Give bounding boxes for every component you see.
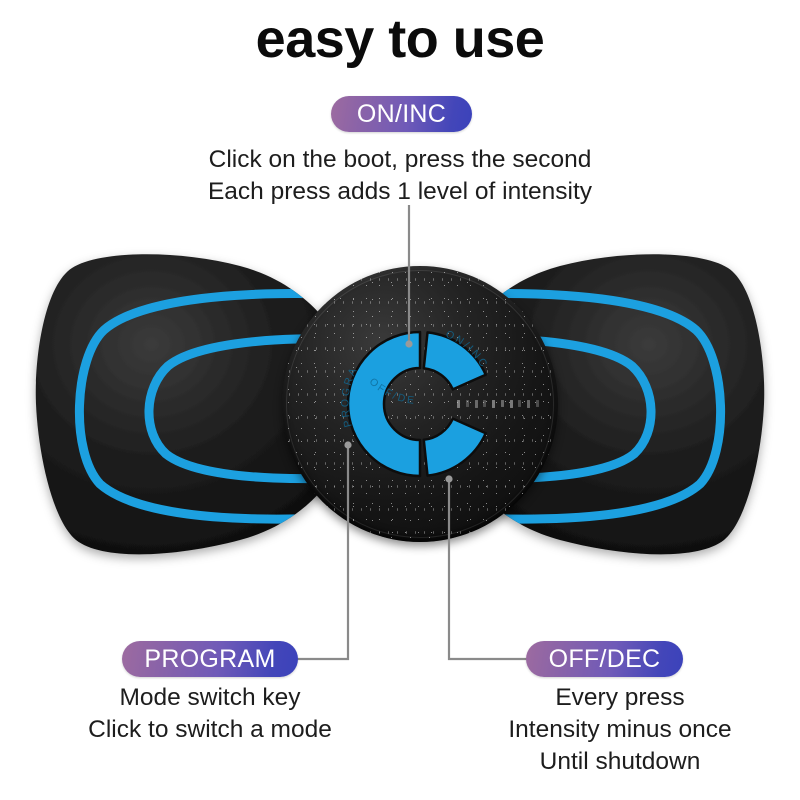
caption-line: Every press <box>440 682 800 714</box>
led-tick <box>457 400 460 408</box>
badge-on-inc[interactable]: ON/INC <box>331 96 472 132</box>
control-hub: ON/INC PROGRAM OFF/DEC <box>282 266 558 542</box>
led-tick <box>483 400 486 407</box>
caption-off-dec: Every press Intensity minus once Until s… <box>440 682 800 778</box>
caption-line: Until shutdown <box>440 746 800 778</box>
led-tick <box>466 400 469 407</box>
caption-line: Mode switch key <box>0 682 420 714</box>
led-tick <box>475 400 478 408</box>
badge-off-dec[interactable]: OFF/DEC <box>526 641 683 677</box>
intensity-led-indicator <box>457 399 539 408</box>
caption-line: Intensity minus once <box>440 714 800 746</box>
led-tick <box>518 400 521 407</box>
led-tick <box>510 400 513 408</box>
caption-line: Click on the boot, press the second <box>0 144 800 176</box>
led-tick <box>536 400 539 407</box>
caption-line: Click to switch a mode <box>0 714 420 746</box>
led-tick <box>492 400 495 408</box>
caption-on-inc: Click on the boot, press the second Each… <box>0 144 800 208</box>
caption-line: Each press adds 1 level of intensity <box>0 176 800 208</box>
infographic-canvas: easy to use <box>0 0 800 800</box>
hub-button-off-dec[interactable] <box>422 415 490 475</box>
hub-label-program: PROGRAM <box>282 266 360 429</box>
led-tick <box>527 400 530 408</box>
caption-program: Mode switch key Click to switch a mode <box>0 682 420 746</box>
badge-program[interactable]: PROGRAM <box>122 641 298 677</box>
led-tick <box>501 400 504 407</box>
